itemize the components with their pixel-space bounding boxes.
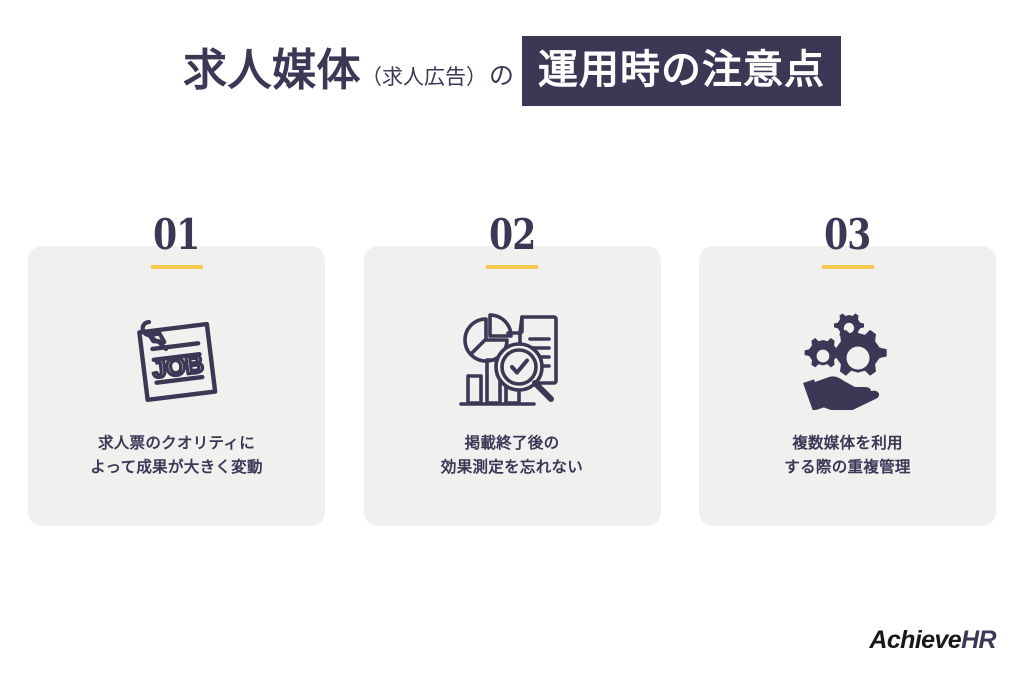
card-03[interactable]: 03: [699, 246, 996, 526]
card-01-line2: よって成果が大きく変動: [90, 456, 263, 480]
card-03-line1: 複数媒体を利用: [784, 432, 910, 456]
card-03-number-group: 03: [699, 214, 996, 269]
card-02[interactable]: 02: [364, 246, 661, 526]
card-01-number: 01: [153, 214, 199, 256]
brand-logo: AchieveHR: [869, 628, 996, 653]
card-02-text: 掲載終了後の 効果測定を忘れない: [441, 432, 583, 480]
job-posting-icon: JOB: [125, 304, 229, 416]
card-01-underline: [151, 265, 203, 269]
card-02-line2: 効果測定を忘れない: [441, 456, 583, 480]
card-03-line2: する際の重複管理: [784, 456, 910, 480]
card-03-text: 複数媒体を利用 する際の重複管理: [784, 432, 910, 480]
card-02-underline: [486, 265, 538, 269]
brand-logo-achieve: Achieve: [869, 626, 961, 654]
card-02-line1: 掲載終了後の: [441, 432, 583, 456]
page-title: 求人媒体 （求人広告） の 運用時の注意点: [0, 36, 1024, 106]
hand-holding-gears-icon: [795, 304, 901, 416]
card-01-number-group: 01: [28, 214, 325, 269]
card-03-number: 03: [824, 214, 870, 256]
analytics-report-icon: [456, 304, 568, 416]
card-01-text: 求人票のクオリティに よって成果が大きく変動: [90, 432, 263, 480]
title-main-text: 求人媒体: [183, 49, 361, 93]
title-highlight-badge: 運用時の注意点: [522, 36, 841, 106]
cards-row: 01 JOB: [28, 246, 996, 526]
card-02-number: 02: [489, 214, 535, 256]
card-01[interactable]: 01 JOB: [28, 246, 325, 526]
brand-logo-hr: HR: [961, 626, 996, 654]
title-paren-text: （求人広告）: [361, 67, 487, 88]
slide-root: 求人媒体 （求人広告） の 運用時の注意点 01: [0, 0, 1024, 683]
card-03-underline: [822, 265, 874, 269]
card-01-line1: 求人票のクオリティに: [90, 432, 263, 456]
card-02-number-group: 02: [364, 214, 661, 269]
title-connector-text: の: [489, 64, 514, 89]
